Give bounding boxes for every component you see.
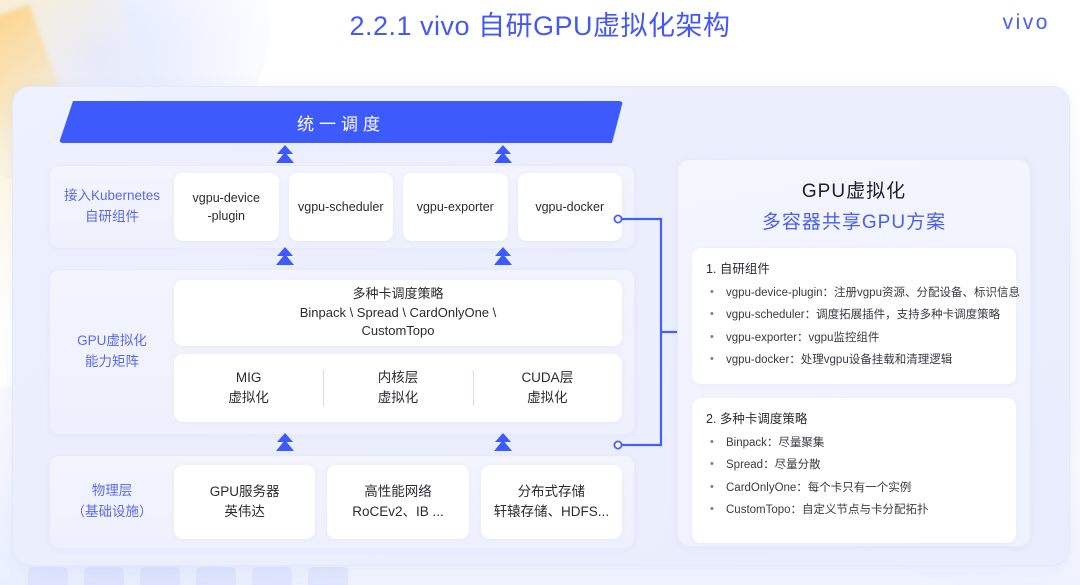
infra-box-network[interactable]: 高性能网络 RoCEv2、IB ... [327, 465, 468, 539]
arrow-up-icon [492, 247, 514, 267]
arrow-up-icon [274, 145, 296, 165]
infra-box-gpu-server[interactable]: GPU服务器 英伟达 [174, 465, 315, 539]
architecture-stack: 统一调度 接入Kubernetes 自研组件 vgpu-device -plug… [49, 101, 633, 551]
virt-cell-cuda[interactable]: CUDA层 虚拟化 [473, 354, 622, 422]
layer-matrix-body: 多种卡调度策略 Binpack \ Spread \ CardOnlyOne \… [174, 270, 634, 434]
panel-title: GPU虚拟化 多容器共享GPU方案 [678, 160, 1030, 238]
list-item: CustomTopo：自定义节点与卡分配拓扑 [704, 499, 1004, 521]
layer-gpu-virtualization-matrix: GPU虚拟化 能力矩阵 多种卡调度策略 Binpack \ Spread \ C… [49, 269, 635, 435]
arrow-up-icon [492, 433, 514, 453]
list-item: Spread：尽量分散 [704, 454, 1004, 476]
info-card-components-list: vgpu-device-plugin：注册vgpu资源、分配设备、标识信息 vg… [704, 282, 1004, 372]
panel-title-primary: GPU虚拟化 [678, 176, 1030, 203]
arrow-row-to-kubernetes [49, 247, 633, 269]
scheduling-policy-box[interactable]: 多种卡调度策略 Binpack \ Spread \ CardOnlyOne \… [174, 280, 622, 346]
list-item: vgpu-scheduler：调度拓展插件，支持多种卡调度策略 [704, 304, 1004, 326]
list-item: vgpu-device-plugin：注册vgpu资源、分配设备、标识信息 [704, 282, 1004, 304]
arrow-up-icon [492, 145, 514, 165]
gpu-virtualization-panel: GPU虚拟化 多容器共享GPU方案 1. 自研组件 vgpu-device-pl… [677, 159, 1031, 547]
unified-scheduling-label: 统一调度 [297, 110, 385, 135]
layer-kubernetes-label: 接入Kubernetes 自研组件 [50, 166, 174, 248]
list-item: vgpu-docker：处理vgpu设备挂载和清理逻辑 [704, 349, 1004, 371]
architecture-board: 统一调度 接入Kubernetes 自研组件 vgpu-device -plug… [12, 86, 1070, 566]
layer-kubernetes: 接入Kubernetes 自研组件 vgpu-device -plugin vg… [49, 165, 635, 249]
layer-matrix-label: GPU虚拟化 能力矩阵 [50, 270, 174, 434]
arrow-row-to-banner [49, 145, 633, 167]
arrow-row-to-matrix [49, 433, 633, 455]
panel-title-secondary: 多容器共享GPU方案 [678, 207, 1030, 234]
info-card-components: 1. 自研组件 vgpu-device-plugin：注册vgpu资源、分配设备… [692, 248, 1016, 384]
vivo-logo: vivo [1003, 11, 1050, 35]
virt-cell-kernel[interactable]: 内核层 虚拟化 [323, 354, 472, 422]
layer-kubernetes-body: vgpu-device -plugin vgpu-scheduler vgpu-… [174, 166, 634, 248]
list-item: vgpu-exporter：vgpu监控组件 [704, 327, 1004, 349]
layer-physical-infrastructure: 物理层 （基础设施） GPU服务器 英伟达 高性能网络 RoCEv2、IB ..… [49, 455, 635, 549]
component-box-vgpu-scheduler[interactable]: vgpu-scheduler [289, 173, 394, 241]
arrow-up-icon [274, 433, 296, 453]
infra-box-storage[interactable]: 分布式存储 轩辕存储、HDFS... [481, 465, 622, 539]
component-box-vgpu-exporter[interactable]: vgpu-exporter [403, 173, 508, 241]
arrow-up-icon [274, 247, 296, 267]
info-card-policies-list: Binpack：尽量聚集 Spread：尽量分散 CardOnlyOne：每个卡… [704, 432, 1004, 522]
info-card-policies-heading: 2. 多种卡调度策略 [706, 408, 1004, 427]
list-item: Binpack：尽量聚集 [704, 432, 1004, 454]
component-box-vgpu-docker[interactable]: vgpu-docker [518, 173, 623, 241]
component-box-vgpu-device-plugin[interactable]: vgpu-device -plugin [174, 173, 279, 241]
info-card-components-heading: 1. 自研组件 [706, 258, 1004, 277]
deco-ghost-thumbnails [28, 567, 368, 585]
virtualization-cells-box: MIG 虚拟化 内核层 虚拟化 CUDA层 虚拟化 [174, 354, 622, 422]
layer-physical-body: GPU服务器 英伟达 高性能网络 RoCEv2、IB ... 分布式存储 轩辕存… [174, 456, 634, 548]
slide-header: 2.2.1 vivo 自研GPU虚拟化架构 vivo [0, 0, 1080, 48]
virt-cell-mig[interactable]: MIG 虚拟化 [174, 354, 323, 422]
info-card-policies: 2. 多种卡调度策略 Binpack：尽量聚集 Spread：尽量分散 Card… [692, 398, 1016, 544]
layer-physical-label: 物理层 （基础设施） [50, 456, 174, 548]
unified-scheduling-banner: 统一调度 [59, 101, 623, 143]
list-item: CardOnlyOne：每个卡只有一个实例 [704, 477, 1004, 499]
page-title: 2.2.1 vivo 自研GPU虚拟化架构 [0, 4, 1080, 43]
